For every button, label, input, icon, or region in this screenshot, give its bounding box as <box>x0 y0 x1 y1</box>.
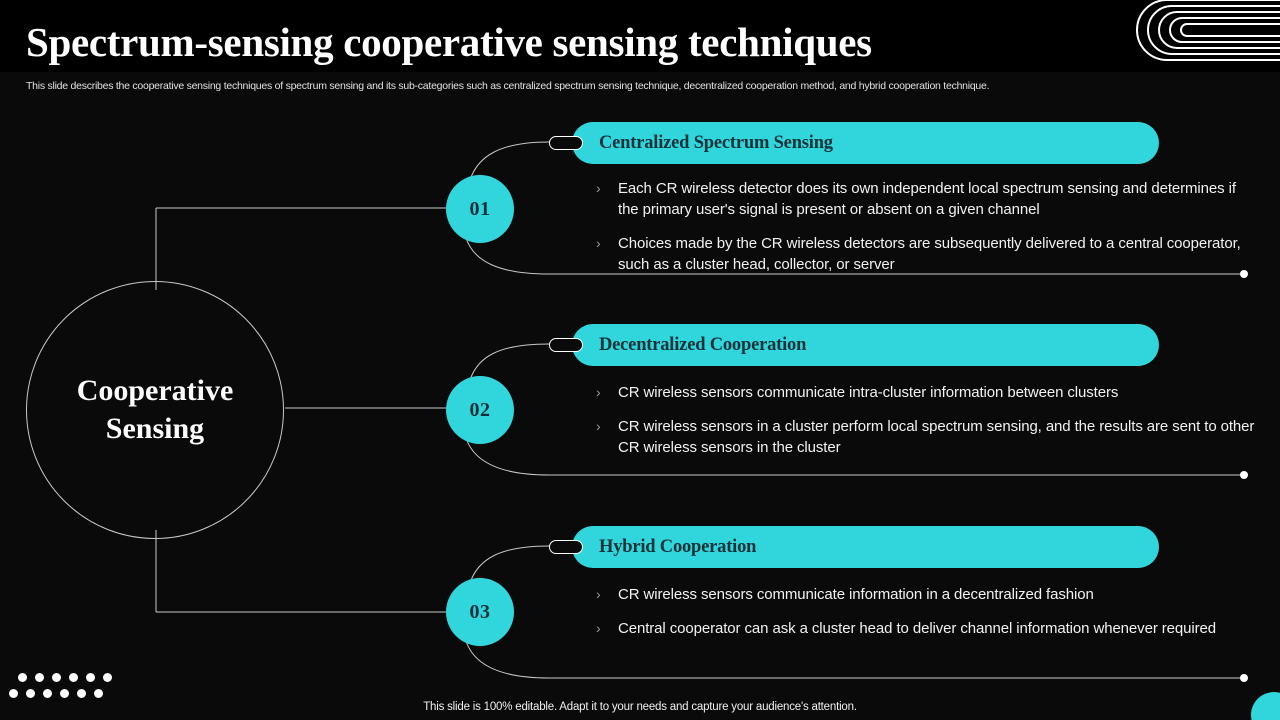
list-item: › Central cooperator can ask a cluster h… <box>596 618 1258 639</box>
bullet-text: Choices made by the CR wireless detector… <box>618 233 1258 275</box>
card-heading-1: Centralized Spectrum Sensing <box>599 133 833 154</box>
chevron-right-icon: › <box>596 584 618 605</box>
chevron-right-icon: › <box>596 178 618 220</box>
card-header-2[interactable]: Decentralized Cooperation <box>572 324 1159 366</box>
page-subtitle: This slide describes the cooperative sen… <box>26 80 1226 92</box>
bullet-list-1: › Each CR wireless detector does its own… <box>596 178 1258 288</box>
list-item: › Each CR wireless detector does its own… <box>596 178 1258 220</box>
step-number-badge-2[interactable]: 02 <box>446 376 514 444</box>
card-heading-2: Decentralized Cooperation <box>599 335 806 356</box>
chevron-right-icon: › <box>596 416 618 458</box>
card-heading-3: Hybrid Cooperation <box>599 537 756 558</box>
slide-canvas: Spectrum-sensing cooperative sensing tec… <box>0 0 1280 720</box>
pill-notch-2 <box>549 338 583 352</box>
page-title: Spectrum-sensing cooperative sensing tec… <box>26 18 872 66</box>
dot-0-5 <box>103 673 112 682</box>
list-item: › CR wireless sensors communicate inform… <box>596 584 1258 605</box>
hub-label: Cooperative Sensing <box>77 372 234 448</box>
dot-1-4 <box>77 689 86 698</box>
dot-grid-decoration <box>7 673 127 703</box>
dot-0-3 <box>69 673 78 682</box>
bullet-text: Central cooperator can ask a cluster hea… <box>618 618 1258 639</box>
dot-1-5 <box>94 689 103 698</box>
pill-notch-3 <box>549 540 583 554</box>
bullet-text: CR wireless sensors communicate intra-cl… <box>618 382 1258 403</box>
bullet-list-3: › CR wireless sensors communicate inform… <box>596 584 1258 652</box>
dot-1-2 <box>43 689 52 698</box>
step-number-badge-1[interactable]: 01 <box>446 175 514 243</box>
chevron-right-icon: › <box>596 618 618 639</box>
dot-0-0 <box>18 673 27 682</box>
bullet-text: CR wireless sensors communicate informat… <box>618 584 1258 605</box>
card-header-1[interactable]: Centralized Spectrum Sensing <box>572 122 1159 164</box>
pill-notch-1 <box>549 136 583 150</box>
bullet-list-2: › CR wireless sensors communicate intra-… <box>596 382 1258 471</box>
dot-1-0 <box>9 689 18 698</box>
dot-1-1 <box>26 689 35 698</box>
dot-0-4 <box>86 673 95 682</box>
card-header-3[interactable]: Hybrid Cooperation <box>572 526 1159 568</box>
step-number-badge-3[interactable]: 03 <box>446 578 514 646</box>
dot-1-3 <box>60 689 69 698</box>
chevron-right-icon: › <box>596 382 618 403</box>
list-item: › CR wireless sensors communicate intra-… <box>596 382 1258 403</box>
list-item: › Choices made by the CR wireless detect… <box>596 233 1258 275</box>
bullet-text: CR wireless sensors in a cluster perform… <box>618 416 1258 458</box>
footer-note: This slide is 100% editable. Adapt it to… <box>0 701 1280 713</box>
list-item: › CR wireless sensors in a cluster perfo… <box>596 416 1258 458</box>
dot-0-1 <box>35 673 44 682</box>
hub-circle: Cooperative Sensing <box>26 281 284 539</box>
bullet-text: Each CR wireless detector does its own i… <box>618 178 1258 220</box>
dot-0-2 <box>52 673 61 682</box>
chevron-right-icon: › <box>596 233 618 275</box>
